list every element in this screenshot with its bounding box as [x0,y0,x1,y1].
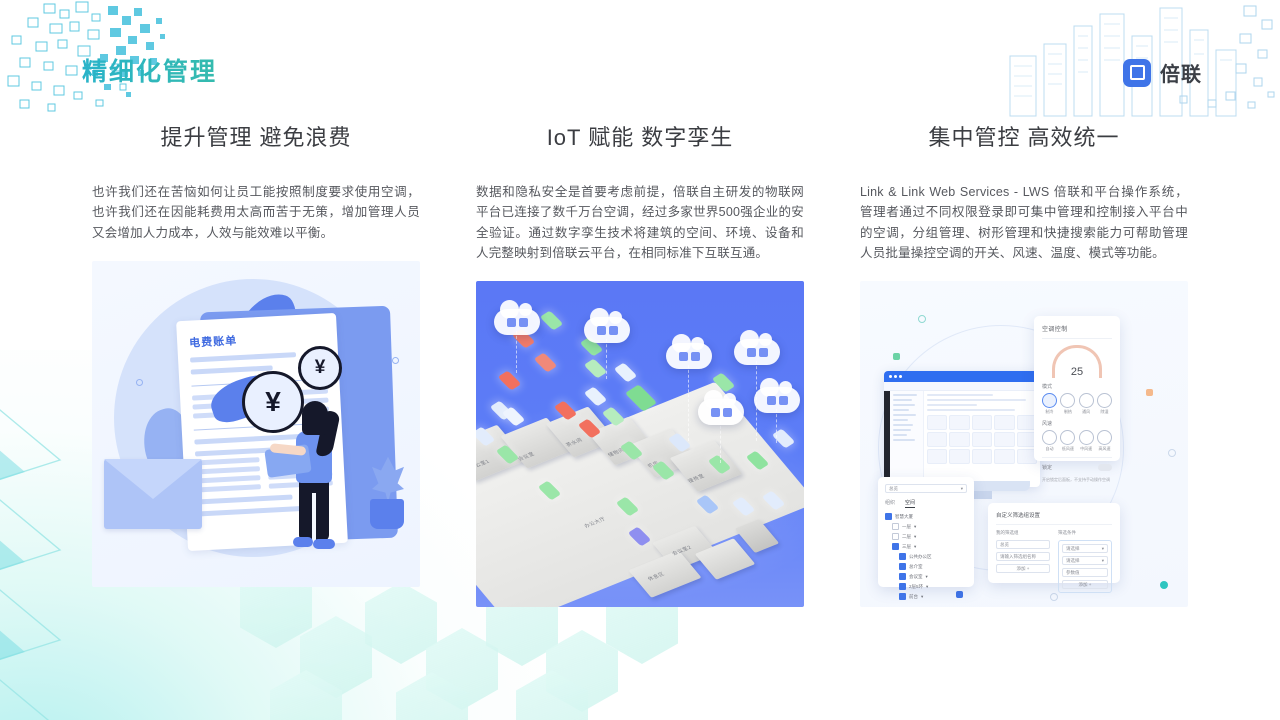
person-figure [282,401,342,551]
lock-toggle[interactable] [1098,464,1112,471]
scope-select-value: 总览 [889,486,898,492]
fan-section-label: 风速 [1042,420,1112,427]
connector-line [606,339,607,379]
chevron-down-icon: ▾ [1102,546,1104,552]
brand-logo: 倍联 [1123,58,1202,87]
chevron-down-icon: ▾ [914,544,916,550]
decor-dot-teal [1160,581,1168,589]
custom-filter-panel[interactable]: 自定义筛选组设置 我的筛选组 总览 请输入筛选组名称 添加 + 筛选条件 请选择… [988,503,1120,583]
fan-low-button[interactable]: 低风速 [1060,430,1075,452]
my-filter-groups-label: 我的筛选组 [996,530,1050,536]
floating-icon [540,311,564,331]
floating-icon [584,359,608,379]
divider [1042,338,1112,339]
browser-window[interactable] [884,371,1040,487]
brand-mark-icon [1123,59,1151,87]
cloud-node-icon [666,343,712,369]
ac-control-panel[interactable]: 空调控制 25 模式 制冷 制热 通风 除湿 风速 自动 低风速 中风速 高风速 [1034,316,1120,461]
chevron-down-icon: ▾ [914,534,916,540]
column-body-text: 数据和隐私安全是首要考虑前提，倍联自主研发的物联网平台已连接了数千万台空调，经过… [476,182,804,263]
add-filter-group-button[interactable]: 添加 + [996,564,1050,573]
connector-line [688,365,689,441]
tree-node[interactable]: 公共办公区 [885,553,967,560]
tree-node[interactable]: 三层▾ [885,543,967,550]
scope-select[interactable]: 总览 ▾ [885,484,967,493]
tree-node[interactable]: 总介室 [885,563,967,570]
filter-group-item[interactable]: 总览 [996,540,1050,549]
divider [996,524,1112,525]
floating-icon [498,371,522,391]
filter-panel-title: 自定义筛选组设置 [996,511,1112,519]
mode-button-row[interactable]: 制冷 制热 通风 除湿 [1042,393,1112,415]
isometric-digital-twin-illustration: 办公室1 会议室 茶水间 储物间 机房 接待室 办公大厅 会议室2 休息区 [476,281,804,607]
plant-pot [370,499,404,529]
cloud-node-icon [494,309,540,335]
window-toolbar[interactable] [884,382,1040,391]
column-title: 集中管控 高效统一 [860,120,1188,152]
coin-small-icon: ¥ [298,346,342,390]
chevron-down-icon: ▾ [926,584,928,590]
condition-value-input[interactable]: 参数值 [1062,568,1108,577]
temperature-value: 25 [1071,366,1083,378]
connector-line [776,409,777,443]
tab-organization[interactable]: 组织 [885,499,895,508]
tree-node[interactable]: 一层▾ [885,523,967,530]
mode-section-label: 模式 [1042,383,1112,390]
chevron-down-icon: ▾ [914,524,916,530]
mode-dry-button[interactable]: 除湿 [1097,393,1112,415]
cloud-node-icon [754,387,800,413]
decor-dot [918,315,926,323]
chevron-down-icon: ▾ [921,594,923,600]
column-iot-digital-twin: IoT 赋能 数字孪生 数据和隐私安全是首要考虑前提，倍联自主研发的物联网平台已… [476,112,804,607]
tree-node[interactable]: 会议室▾ [885,573,967,580]
cloud-node-icon [584,317,630,343]
ac-panel-title: 空调控制 [1042,324,1112,333]
fan-medium-button[interactable]: 中风速 [1079,430,1094,452]
decor-dot [1050,593,1058,601]
bill-line [190,352,296,363]
fan-high-button[interactable]: 高风速 [1097,430,1112,452]
floating-icon [614,363,638,383]
column-title: IoT 赋能 数字孪生 [476,120,804,152]
conditions-box: 请选择▾ 请选择▾ 参数值 添加 + [1058,540,1112,593]
space-tree-panel[interactable]: 总览 ▾ 组织 空间 智慧大厦 一层▾ 二层▾ 三层▾ 公共办公区 总介室 会议… [878,477,974,587]
window-titlebar [884,371,1040,382]
add-condition-button[interactable]: 添加 + [1062,580,1108,589]
column-manage-waste: 提升管理 避免浪费 也许我们还在苦恼如何让员工能按照制度要求使用空调，也许我们还… [92,112,420,607]
platform-ui-illustration: 空调控制 25 模式 制冷 制热 通风 除湿 风速 自动 低风速 中风速 高风速 [860,281,1188,607]
filter-conditions-label: 筛选条件 [1058,530,1112,536]
content-columns: 提升管理 避免浪费 也许我们还在苦恼如何让员工能按照制度要求使用空调，也许我们还… [0,112,1280,607]
filter-group-name-input[interactable]: 请输入筛选组名称 [996,552,1050,561]
cloud-node-icon [698,399,744,425]
column-body-text: 也许我们还在苦恼如何让员工能按照制度要求使用空调，也许我们还在因能耗费用太高而苦… [92,182,420,243]
floating-icon [534,353,558,373]
mode-cool-button[interactable]: 制冷 [1042,393,1057,415]
decor-square [893,353,900,360]
electricity-bill-illustration: 电费账单 ¥ ¥ [92,261,420,587]
column-body-text: Link & Link Web Services - LWS 倍联和平台操作系统… [860,182,1188,263]
device-card-grid[interactable] [927,415,1037,464]
tree-node[interactable]: 前台▾ [885,593,967,600]
column-central-control: 集中管控 高效统一 Link & Link Web Services - LWS… [860,112,1188,607]
tree-tabs[interactable]: 组织 空间 [885,499,967,508]
envelope-icon [104,459,202,529]
bill-line [197,494,292,504]
tree-node[interactable]: 智慧大厦 [885,513,967,520]
condition-select-2[interactable]: 请选择▾ [1062,556,1108,565]
brand-name: 倍联 [1160,58,1202,87]
tree-node[interactable]: 二层▾ [885,533,967,540]
tree-sidebar[interactable] [890,391,924,487]
temperature-dial[interactable]: 25 [1052,345,1102,378]
decor-dot [392,357,399,364]
chevron-down-icon: ▾ [1102,558,1104,564]
connector-line [516,331,517,373]
filter-conditions-column: 筛选条件 请选择▾ 请选择▾ 参数值 添加 + [1058,530,1112,593]
chevron-down-icon: ▾ [961,486,963,492]
condition-select-1[interactable]: 请选择▾ [1062,544,1108,553]
divider [1042,457,1112,458]
tab-space[interactable]: 空间 [905,499,915,508]
fan-auto-button[interactable]: 自动 [1042,430,1057,452]
page-title: 精细化管理 [82,52,217,88]
my-filter-groups-column: 我的筛选组 总览 请输入筛选组名称 添加 + [996,530,1050,593]
fan-speed-row[interactable]: 自动 低风速 中风速 高风速 [1042,430,1112,452]
decor-square [1146,389,1153,396]
decor-dot [1168,449,1176,457]
column-title: 提升管理 避免浪费 [92,120,420,152]
lock-label: 锁定 [1042,464,1052,471]
connector-line [720,421,721,463]
main-content-area[interactable] [924,391,1040,487]
bill-title: 电费账单 [189,327,326,350]
chevron-down-icon: ▾ [926,574,928,580]
decor-dot [136,379,143,386]
cloud-node-icon [734,339,780,365]
tree-node[interactable]: 2层5环▾ [885,583,967,590]
lock-hint-text: 开启锁定后面板，不支持手动操作空调 [1042,477,1112,483]
page-header: 精细化管理 倍联 [0,0,1280,110]
mode-fan-button[interactable]: 通风 [1079,393,1094,415]
mode-heat-button[interactable]: 制热 [1060,393,1075,415]
